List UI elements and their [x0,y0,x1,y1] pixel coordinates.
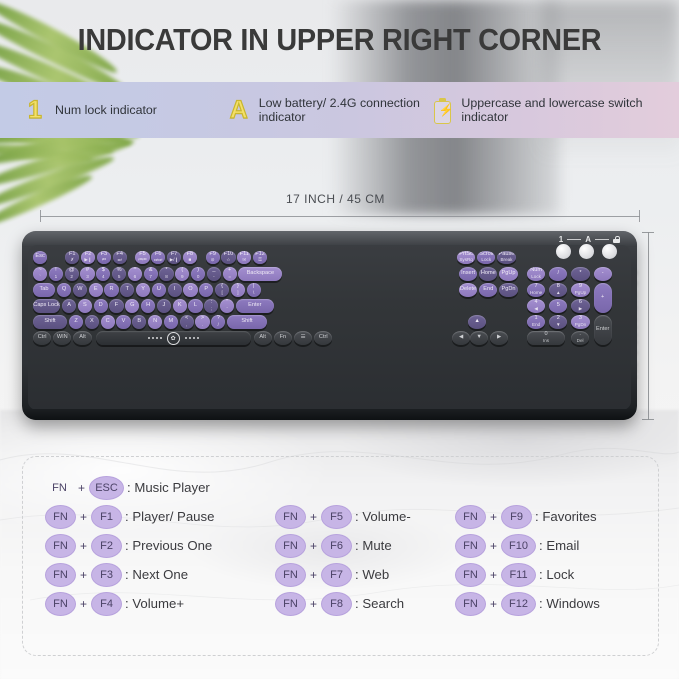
key-f6: F6⏭⏭ [151,251,165,264]
shortcut-action-label: : Volume+ [125,596,184,611]
led-indicator-lock [602,244,617,259]
shortcut-fn-key: FN [45,592,76,616]
indicator-label-num: 1 [559,235,563,244]
key-e: E [89,283,103,297]
key-ctrl-left: Ctrl [33,331,51,345]
shortcut-row: FN+F4: Volume+ [45,589,214,618]
key-numpad-enter: Enter [594,315,612,345]
key-f11: F11✉ [237,251,251,264]
shortcut-plus-sign: + [310,539,317,553]
shortcut-row: FN+F1: Player/ Pause [45,502,214,531]
key-numpad-0: 0Ins [527,331,565,345]
key-i: I [168,283,182,297]
shortcut-plus-sign: + [80,539,87,553]
key-num-7: &7 [144,267,158,281]
shortcut-target-key: F3 [91,563,122,587]
key-menu: ☰ [294,331,312,345]
shortcut-plus-sign: + [80,568,87,582]
letter-a-glyph-icon: A [226,98,252,123]
key-}: }] [231,283,245,297]
key-backspace: Backspace [238,267,282,281]
shortcut-fn-key: FN [455,534,486,558]
key-pgdn: PgDn [499,283,517,297]
key-num-6: ^6 [128,267,142,281]
width-dimension-tick-right [639,210,640,222]
key-f3: F3⏮ [97,251,111,264]
key-f2: F2▶❙ [81,251,95,264]
shortcut-fn-key: FN [455,563,486,587]
shortcut-row: FN+ESC: Music Player [45,473,214,502]
shortcut-plus-sign: + [80,597,87,611]
shortcut-row: FN+F8: Search [275,589,411,618]
page-title: INDICATOR IN UPPER RIGHT CORNER [24,22,655,58]
shortcut-target-key: F2 [91,534,122,558]
key-arrow-down: ▼ [470,331,488,345]
key-l: L [188,299,202,313]
key-fn: Fn [274,331,292,345]
key-m: M [164,315,178,329]
key-f5: F5⏮⏮ [135,251,149,264]
legend-label-num-lock: Num lock indicator [55,103,157,117]
legend-item-num-lock: 1 Num lock indicator [22,98,226,123]
width-dimension-tick-left [40,210,41,222]
key-pause: PauseBreak [497,251,515,264]
shortcut-fn-key: FN [45,563,76,587]
shortcut-action-label: : Previous One [125,538,212,553]
shortcut-target-key: F11 [501,563,536,587]
key-f4: F4⏭ [113,251,127,264]
shortcut-plus-sign: + [310,597,317,611]
num-lock-one-glyph-icon: 1 [22,98,48,123]
key-num-2: @2 [65,267,79,281]
shortcut-fn-key: FN [455,505,486,529]
shortcut-fn-key: FN [275,563,306,587]
width-dimension-label: 17 INCH / 45 CM [286,192,385,206]
key-arrow-left: ◀ [452,331,470,345]
shortcut-plus-sign: + [80,510,87,524]
key-num-3: #3 [80,267,94,281]
key-scroll: ScrollLock [477,251,495,264]
shortcut-target-key: ESC [89,476,124,500]
key-f9: F9⊘ [206,251,220,264]
key-numpad-decimal: .Del [571,331,589,345]
key-num-=: += [223,267,237,281]
key-num-1: !1 [49,267,63,281]
key-numpad-1: 1End [527,315,545,329]
key-f7: F7▶/❙ [167,251,181,264]
height-dimension-tick-top [642,232,654,233]
key->: >. [195,315,209,329]
key-<: <, [180,315,194,329]
shortcut-plus-sign: + [490,597,497,611]
shortcut-fn-key: FN [275,534,306,558]
shortcut-row: FN+F10: Email [455,531,600,560]
shortcut-row: FN+F9: Favorites [455,502,600,531]
shortcut-plus-sign: + [490,510,497,524]
key-arrow-up: ▲ [468,315,486,329]
keyboard-bottom-bezel [22,409,637,420]
key-f: F [109,299,123,313]
key-f1: F1✗ [65,251,79,264]
shortcut-action-label: : Lock [539,567,574,582]
key-c: C [101,315,115,329]
shortcut-fn-key: FN [275,592,306,616]
key-j: J [157,299,171,313]
key-numpad-3: 3PgDn [571,315,589,329]
shortcut-action-label: : Web [355,567,389,582]
key-numpad-9: 9PgUp [571,283,589,297]
key-numpad-6: 6▶ [571,299,589,313]
shortcut-column-1: FN+ESC: Music PlayerFN+F1: Player/ Pause… [45,473,214,618]
key-arrow-right: ▶ [490,331,508,345]
shortcut-fn-key: FN [45,505,76,529]
shortcut-row: FN+F12: Windows [455,589,600,618]
shortcut-target-key: F7 [321,563,352,587]
battery-bolt-icon: ⚡ [434,98,451,123]
shortcut-target-key: F5 [321,505,352,529]
shortcut-plus-sign: + [78,481,85,495]
key-caps-lock: Caps Lock [33,299,60,313]
shortcut-plus-sign: + [490,539,497,553]
key-w: W [73,283,87,297]
height-dimension-tick-bottom [642,419,654,420]
key-enter: Enter [236,299,274,313]
keyboard-product-image: 1 A EscF1✗F2▶❙F3⏮F4⏭F5⏮⏮F6⏭⏭F7▶/❙F8■F9⊘F… [22,231,637,420]
shortcut-action-label: : Search [355,596,404,611]
shortcut-row: FN+F6: Mute [275,531,411,560]
key-numpad-4: 4◀ [527,299,545,313]
key-delete: Delete [459,283,477,297]
legend-item-case-switch: ⚡ Uppercase and lowercase switch indicat… [430,96,679,124]
width-dimension-line [40,216,640,217]
key-v: V [116,315,130,329]
shortcut-target-key: F6 [321,534,352,558]
key-numpad-7: 7Home [527,283,545,297]
key-num-8: *8 [159,267,173,281]
shortcut-target-key: F10 [501,534,536,558]
shortcut-panel: FN+ESC: Music PlayerFN+F1: Player/ Pause… [22,456,659,656]
key-|: |\ [247,283,261,297]
led-indicator-num [556,244,571,259]
shortcut-action-label: : Volume- [355,509,411,524]
shortcut-action-label: : Next One [125,567,188,582]
legend-label-case-switch: Uppercase and lowercase switch indicator [461,96,679,124]
key-numpad-num-lock: NumLock [527,267,545,281]
key-pgup: PgUp [499,267,517,281]
shortcut-action-label: : Windows [539,596,600,611]
key-f10: F10☆ [221,251,235,264]
shortcut-action-label: : Music Player [127,480,210,495]
keyboard-indicator-labels: 1 A [559,235,620,244]
shortcut-row: FN+F2: Previous One [45,531,214,560]
key-num--: _- [207,267,221,281]
legend-item-low-battery: A Low battery/ 2.4G connection indicator [226,96,431,124]
shortcut-target-key: F12 [501,592,536,616]
key-numpad--: - [594,267,612,281]
infographic-page: INDICATOR IN UPPER RIGHT CORNER 1 Num lo… [0,0,679,679]
key-numpad-plus: + [594,283,612,313]
key-esc: Esc [33,251,47,264]
key-r: R [104,283,118,297]
shortcut-fn-key: FN [45,477,74,499]
key-shift-right: Shift [227,315,267,329]
indicator-legend-bar: 1 Num lock indicator A Low battery/ 2.4G… [0,82,679,138]
key-d: D [94,299,108,313]
shortcut-action-label: : Favorites [535,509,597,524]
key-numpad-*: * [571,267,589,281]
shortcut-target-key: F8 [321,592,352,616]
shortcut-action-label: : Mute [355,538,392,553]
shortcut-column-3: FN+F9: FavoritesFN+F10: EmailFN+F11: Loc… [455,502,600,618]
key-alt-left: Alt [73,331,91,345]
shortcut-plus-sign: + [310,568,317,582]
shortcut-plus-sign: + [310,510,317,524]
legend-label-low-battery: Low battery/ 2.4G connection indicator [259,96,431,124]
shortcut-target-key: F1 [91,505,122,529]
key-u: U [152,283,166,297]
key-f12: F12⚿ [253,251,267,264]
shortcut-action-label: : Player/ Pause [125,509,214,524]
indicator-label-caps: A [585,235,591,244]
key-o: O [183,283,197,297]
key-prtsc: PrtScSysRq [457,251,475,264]
shortcut-target-key: F9 [501,505,532,529]
key-shift-left: Shift [33,315,67,329]
key-alt-right: Alt [254,331,272,345]
shortcut-row: FN+F11: Lock [455,560,600,589]
shortcut-fn-key: FN [45,534,76,558]
shortcut-row: FN+F5: Volume- [275,502,411,531]
shortcut-fn-key: FN [455,592,486,616]
key-spacebar: ✿ [96,331,251,345]
key-tab: Tab [33,283,55,297]
key-insert: Insert [459,267,477,281]
led-indicator-caps [579,244,594,259]
shortcut-action-label: : Email [539,538,579,553]
key-f8: F8■ [183,251,197,264]
shortcut-row: FN+F7: Web [275,560,411,589]
shortcut-row: FN+F3: Next One [45,560,214,589]
shortcut-target-key: F4 [91,592,122,616]
key-k: K [173,299,187,313]
height-dimension-line [648,232,649,420]
lock-icon [613,236,620,244]
shortcut-column-2: FN+F5: Volume-FN+F6: MuteFN+F7: WebFN+F8… [275,502,411,618]
shortcut-fn-key: FN [275,505,306,529]
shortcut-plus-sign: + [490,568,497,582]
key-s: S [78,299,92,313]
key-x: X [85,315,99,329]
